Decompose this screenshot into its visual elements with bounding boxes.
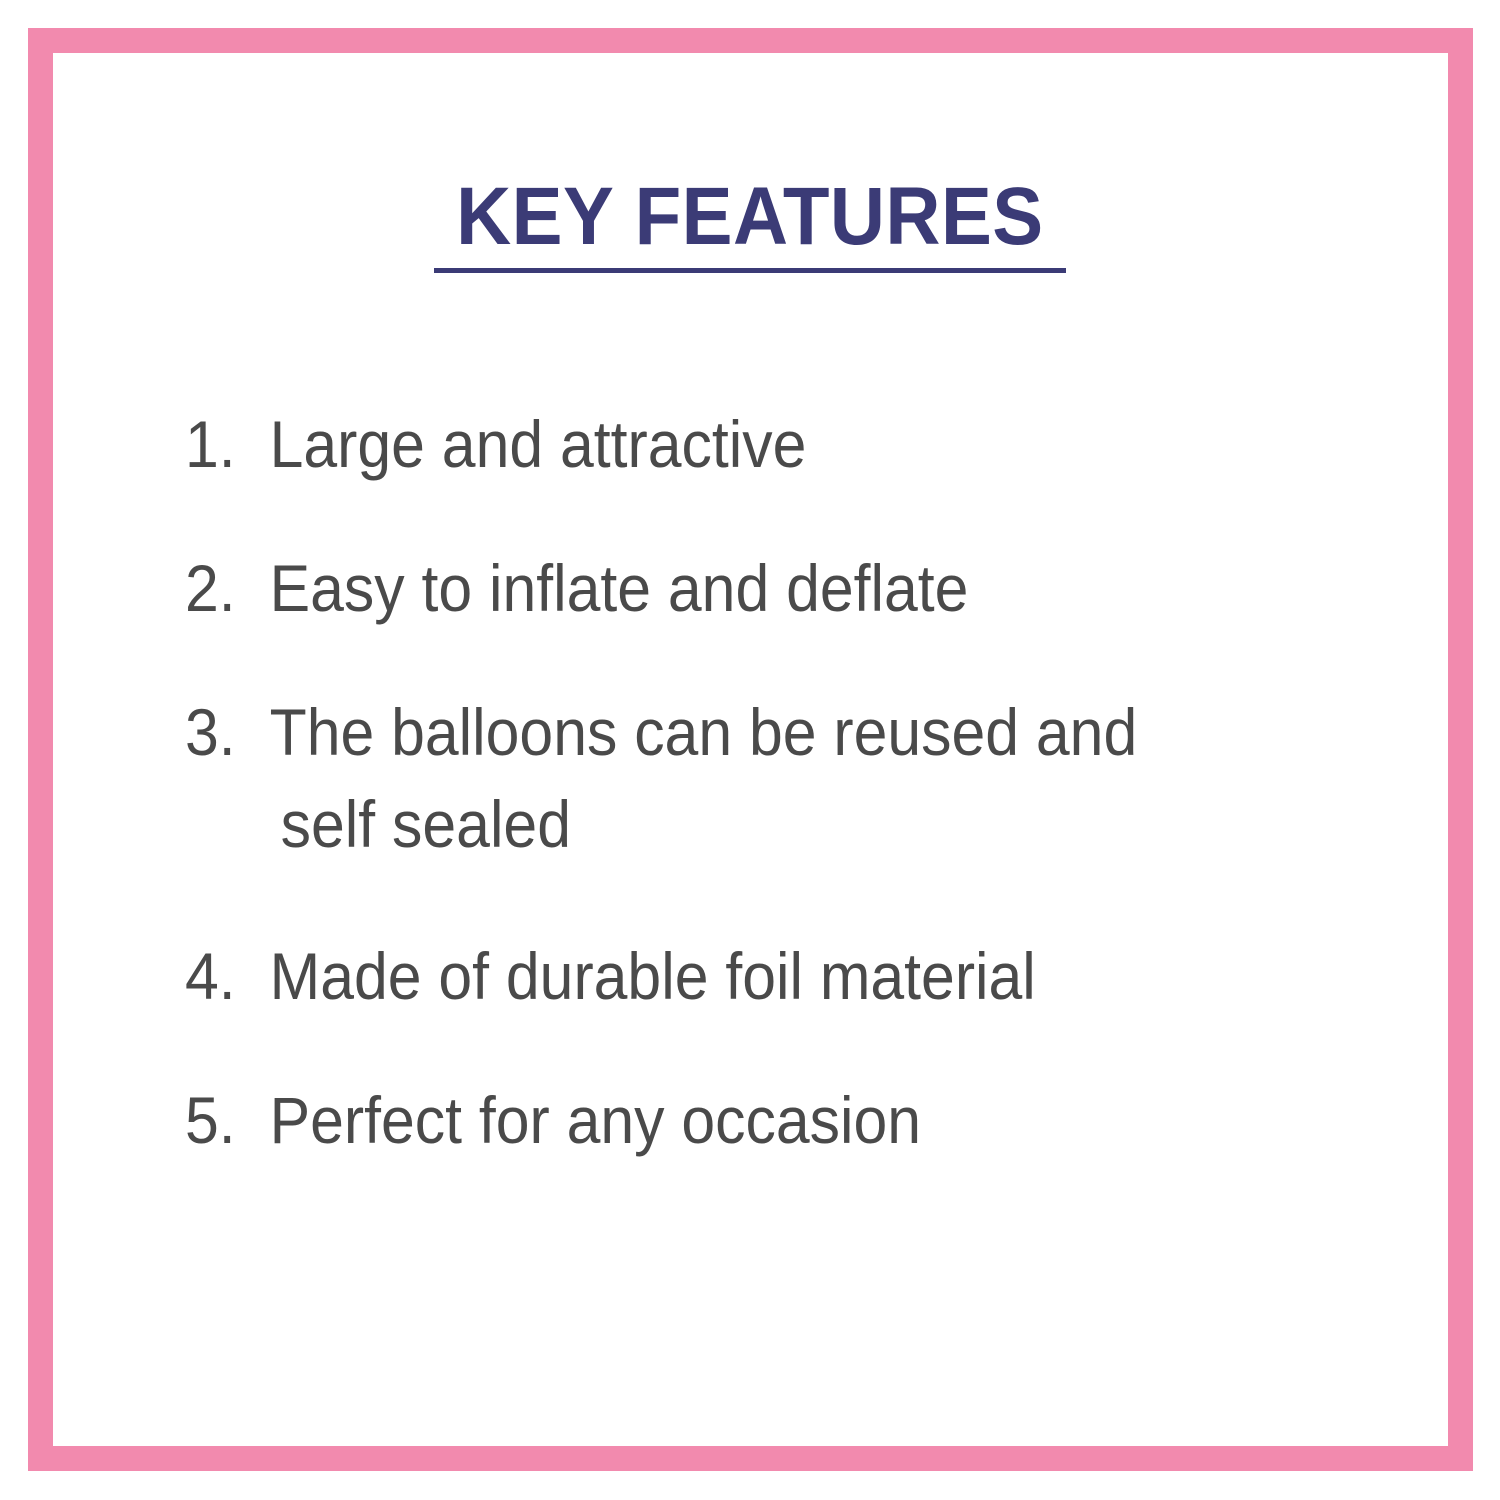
list-item-number: 2. xyxy=(185,542,270,634)
list-item-text: Perfect for any occasion xyxy=(270,1074,1308,1166)
product-feature-card: KEY FEATURES 1. Large and attractive 2. … xyxy=(0,0,1500,1500)
list-item-text-wrap: The balloons can be reused and self seal… xyxy=(270,686,1138,870)
list-item-text: Easy to inflate and deflate xyxy=(270,542,1308,634)
title-inner: KEY FEATURES xyxy=(434,175,1066,273)
list-item-number: 3. xyxy=(185,686,270,778)
features-list: 1. Large and attractive 2. Easy to infla… xyxy=(185,398,1405,1166)
list-item-text: Large and attractive xyxy=(270,398,1308,490)
list-item-text: Made of durable foil material xyxy=(270,930,1308,1022)
list-item-number: 1. xyxy=(185,398,270,490)
list-item-text-continuation: self sealed xyxy=(270,778,1138,870)
list-item: 2. Easy to inflate and deflate xyxy=(185,542,1307,634)
title-block: KEY FEATURES xyxy=(0,175,1500,273)
title-underline xyxy=(434,268,1066,273)
list-item: 1. Large and attractive xyxy=(185,398,1307,490)
page-title: KEY FEATURES xyxy=(456,175,1044,259)
list-item-text: The balloons can be reused and xyxy=(270,695,1138,769)
list-item: 4. Made of durable foil material xyxy=(185,930,1307,1022)
list-item-number: 4. xyxy=(185,930,270,1022)
list-item-number: 5. xyxy=(185,1074,270,1166)
list-item: 3. The balloons can be reused and self s… xyxy=(185,686,1307,870)
list-item: 5. Perfect for any occasion xyxy=(185,1074,1307,1166)
